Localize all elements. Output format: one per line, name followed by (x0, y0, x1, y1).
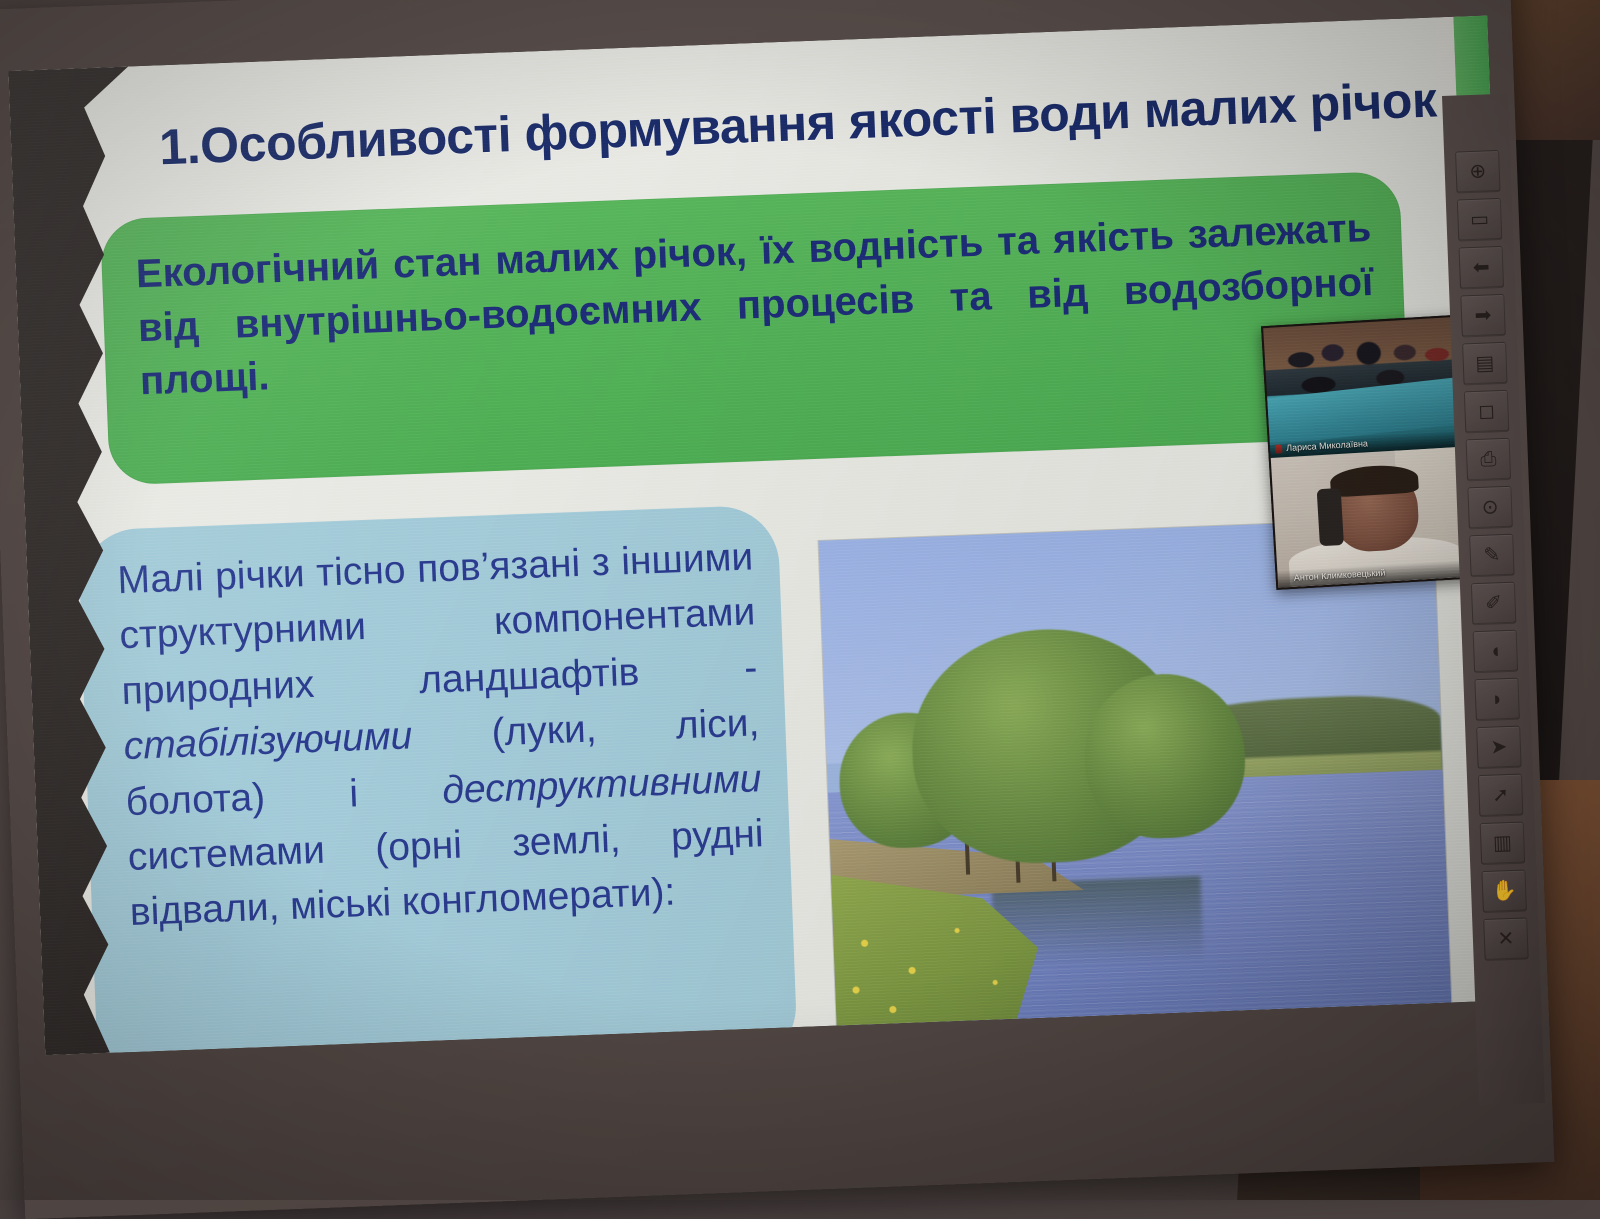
blue-definition-box: Малі річки тісно пов’язані з іншими стру… (78, 504, 799, 1055)
shapes-icon[interactable]: ◻ (1464, 390, 1510, 434)
close-icon[interactable]: ✕ (1483, 917, 1529, 961)
interactive-display-bezel: 1.Особливості формування якості води мал… (0, 0, 1554, 1219)
eraser-icon[interactable]: ◖ (1473, 630, 1519, 674)
blue-text-emphasis-2: деструктивними (442, 757, 763, 812)
river-landscape-photo (819, 518, 1452, 1026)
pointer-icon[interactable]: ➤ (1476, 726, 1522, 770)
keyboard-icon[interactable]: ▥ (1480, 821, 1526, 865)
screenshot-icon[interactable]: ⎙ (1466, 438, 1512, 482)
highlighter-icon[interactable]: ✐ (1471, 582, 1517, 626)
back-arrow-icon[interactable]: ⬅ (1459, 246, 1505, 290)
page-title: 1.Особливості формування якості води мал… (158, 75, 1389, 174)
photo-yellow-flowers (832, 900, 1094, 1026)
blue-text-emphasis-1: стабілізуючими (123, 714, 413, 768)
pen-icon[interactable]: ✎ (1469, 534, 1515, 578)
target-icon[interactable]: ⊕ (1455, 150, 1501, 194)
blue-box-text: Малі річки тісно пов’язані з іншими стру… (116, 529, 766, 940)
cursor-icon[interactable]: ➚ (1478, 774, 1524, 818)
video-tile-classroom[interactable]: Лариса Миколаївна (1263, 317, 1470, 458)
blue-text-part-1: Малі річки тісно пов’язані з іншими стру… (117, 535, 758, 713)
green-box-text: Екологічний стан малих річок, їх водніст… (135, 202, 1376, 409)
video-speaker-hair (1329, 464, 1419, 498)
note-icon[interactable]: ▤ (1462, 342, 1508, 386)
lasso-icon[interactable]: ◗ (1474, 678, 1520, 722)
blue-text-part-3: системами (орні землі, рудні відвали, мі… (127, 812, 764, 934)
forward-arrow-icon[interactable]: ➡ (1460, 294, 1506, 338)
page-icon[interactable]: ▭ (1457, 198, 1503, 242)
camera-icon[interactable]: ⊙ (1467, 486, 1513, 530)
hand-icon[interactable]: ✋ (1481, 869, 1527, 913)
display-screen[interactable]: 1.Особливості формування якості води мал… (8, 15, 1524, 1055)
video-tile-speaker[interactable]: Антон Климковецький (1271, 446, 1478, 587)
video-call-overlay[interactable]: Лариса Миколаївна Антон Климковецький (1261, 314, 1480, 589)
green-statement-box: Екологічний стан малих річок, їх водніст… (100, 171, 1409, 486)
headset-icon (1317, 488, 1344, 546)
